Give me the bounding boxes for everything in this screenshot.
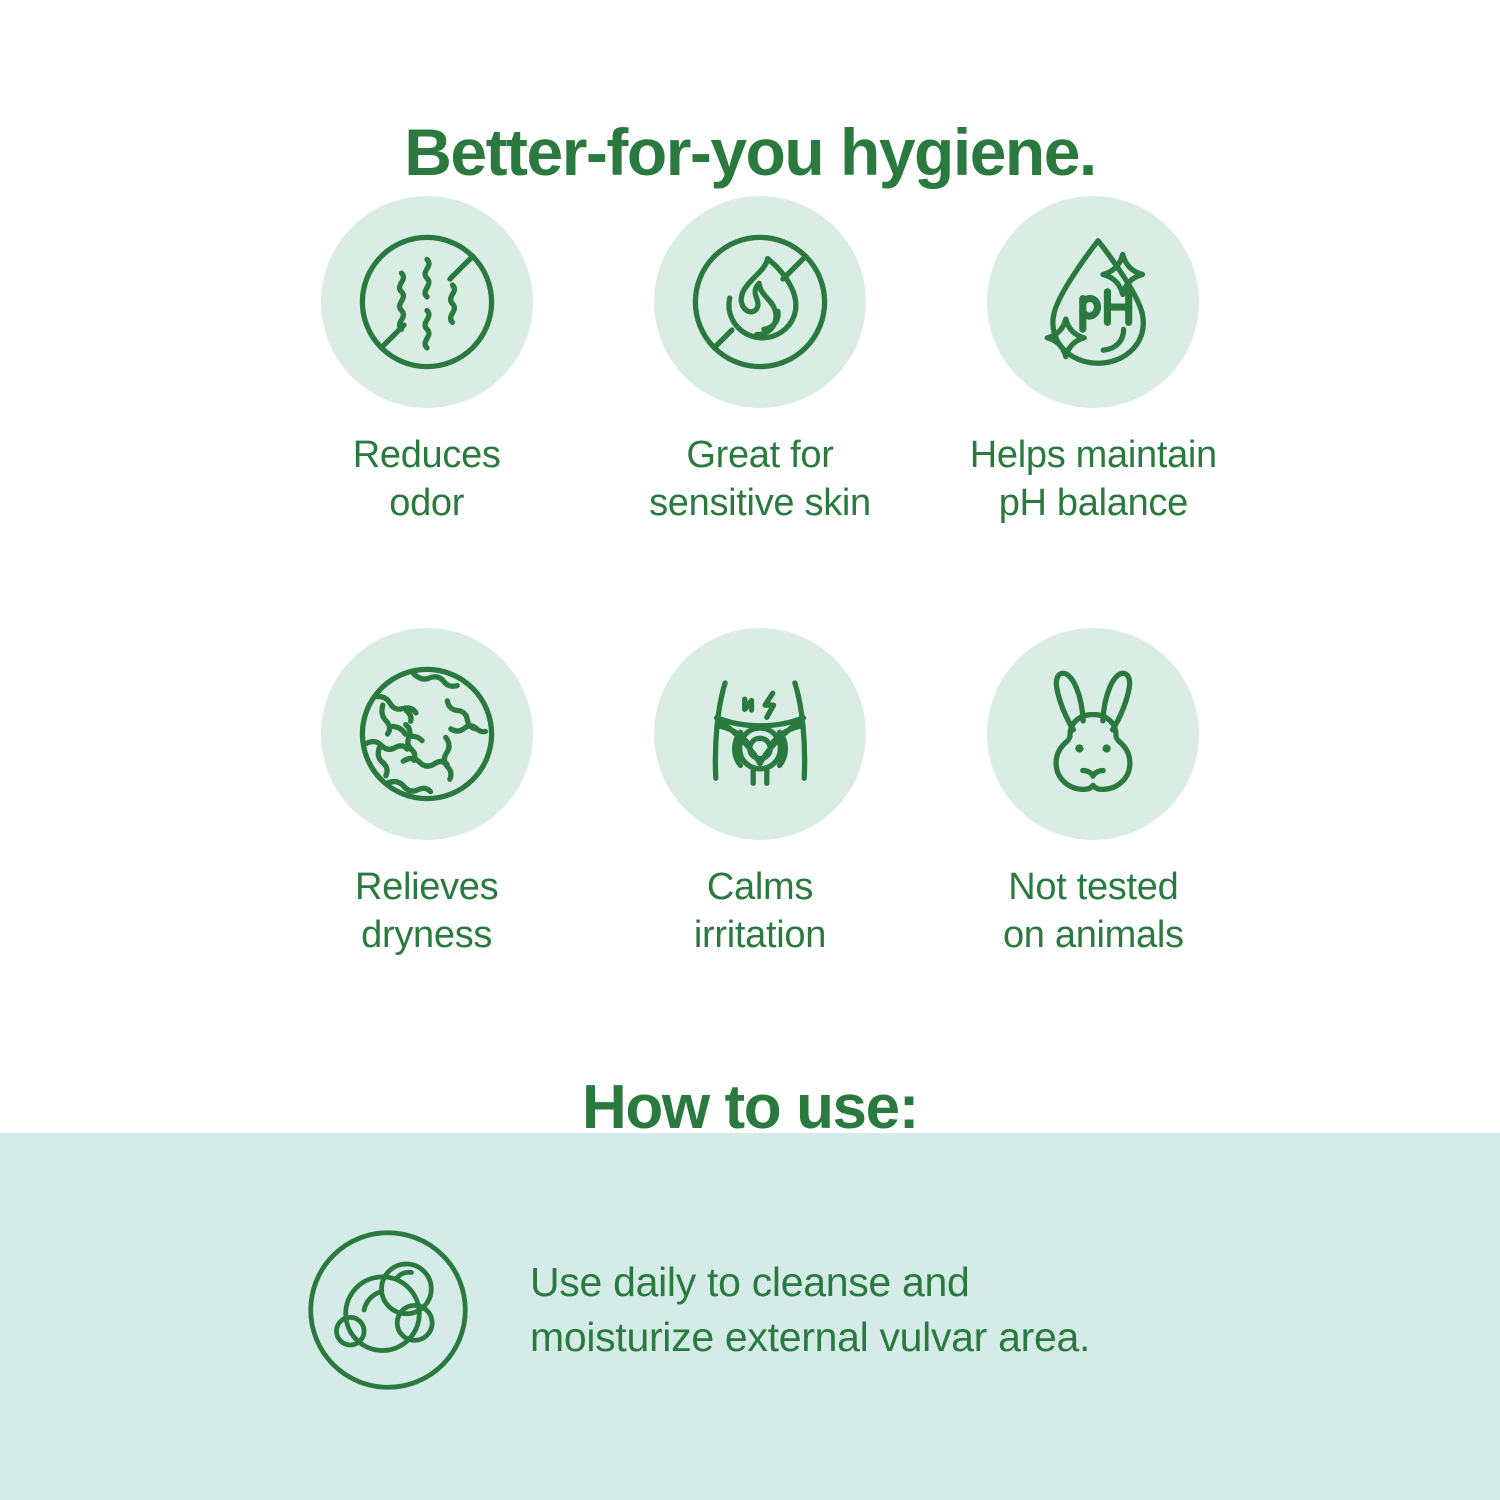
dry-cracked-skin-icon [342,649,512,819]
benefit-icon-badge [987,628,1199,840]
benefit-item-reduces-odor: Reduces odor [260,196,593,528]
ph-droplet-icon [1008,217,1178,387]
no-odor-icon [342,217,512,387]
benefit-label: Not tested on animals [1003,864,1184,960]
benefit-icon-badge [321,196,533,408]
no-flame-icon [675,217,845,387]
benefit-icon-badge [654,196,866,408]
pelvic-irritation-icon [675,649,845,819]
benefit-label: Relieves dryness [355,864,498,960]
benefit-item-calms-irritation: Calms irritation [593,628,926,960]
benefit-label: Great for sensitive skin [649,432,871,528]
how-to-use-row: Use daily to cleanse and moisturize exte… [296,1218,1090,1402]
how-to-use-text: Use daily to cleanse and moisturize exte… [530,1255,1090,1364]
benefit-icon-badge [654,628,866,840]
benefit-label: Calms irritation [694,864,826,960]
benefits-grid: Reduces odor Great for sensitive skin [260,196,1260,960]
benefit-icon-badge [987,196,1199,408]
page-title: Better-for-you hygiene. [0,118,1500,187]
infographic-page: Better-for-you hygiene. Reduces [0,0,1500,1500]
benefit-label: Reduces odor [353,432,501,528]
bunny-icon [1008,649,1178,819]
benefit-icon-badge [321,628,533,840]
bubbles-icon [296,1218,480,1402]
benefit-item-ph-balance: Helps maintain pH balance [927,196,1260,528]
benefit-item-relieves-dryness: Relieves dryness [260,628,593,960]
benefit-item-sensitive-skin: Great for sensitive skin [593,196,926,528]
benefit-label: Helps maintain pH balance [970,432,1217,528]
benefit-item-not-tested-on-animals: Not tested on animals [927,628,1260,960]
